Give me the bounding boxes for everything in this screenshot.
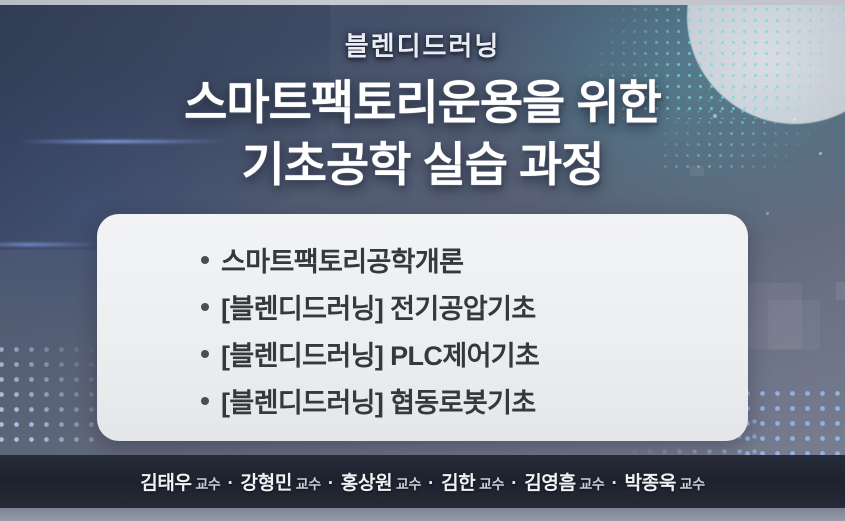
- bullet-icon: [201, 397, 209, 405]
- course-promo-slide: 블렌디드러닝 스마트팩토리운용을 위한 기초공학 실습 과정 스마트팩토리공학개…: [0, 0, 845, 521]
- instructor-names: 김태우 교수 · 강형민 교수 · 홍상원 교수 · 김한 교수 · 김영흠 교…: [140, 468, 705, 495]
- name-separator: ·: [605, 473, 625, 494]
- translucent-plate: [836, 282, 845, 300]
- bottom-edge-strip: [0, 508, 845, 521]
- course-label: [블렌디드러닝] PLC제어기초: [221, 334, 539, 373]
- instructor-name: 김태우: [140, 473, 192, 494]
- kicker-container: 블렌디드러닝: [0, 26, 845, 63]
- course-label: [블렌디드러닝] 전기공압기초: [221, 287, 536, 326]
- top-edge-strip: [0, 0, 845, 5]
- light-streak: [0, 243, 100, 246]
- instructor-name: 박종욱: [625, 473, 677, 494]
- course-label: 스마트팩토리공학개론: [221, 240, 463, 279]
- instructor-role: 교수: [475, 476, 504, 492]
- bullet-icon: [201, 350, 209, 358]
- course-list: 스마트팩토리공학개론 [블렌디드러닝] 전기공압기초 [블렌디드러닝] PLC제…: [97, 214, 748, 424]
- translucent-plate: [768, 300, 820, 350]
- instructor-role: 교수: [292, 476, 321, 492]
- title-line-1: 스마트팩토리운용을 위한: [0, 72, 845, 134]
- instructor-name: 김한: [441, 473, 475, 494]
- instructor-name: 강형민: [240, 473, 292, 494]
- name-separator: ·: [220, 473, 240, 494]
- title-line-2: 기초공학 실습 과정: [0, 134, 845, 196]
- page-title: 스마트팩토리운용을 위한 기초공학 실습 과정: [0, 72, 845, 196]
- name-separator: ·: [504, 473, 524, 494]
- instructor-role: 교수: [392, 476, 421, 492]
- instructor-name: 홍상원: [341, 473, 393, 494]
- instructor-name: 김영흠: [524, 473, 576, 494]
- course-list-card: 스마트팩토리공학개론 [블렌디드러닝] 전기공압기초 [블렌디드러닝] PLC제…: [97, 214, 748, 441]
- list-item[interactable]: [블렌디드러닝] 전기공압기초: [201, 283, 748, 330]
- light-speck: [766, 212, 769, 215]
- name-separator: ·: [321, 473, 341, 494]
- blue-dot-grid-bottom-left-icon: [0, 342, 104, 452]
- instructor-footer-bar: 김태우 교수 · 강형민 교수 · 홍상원 교수 · 김한 교수 · 김영흠 교…: [0, 455, 845, 508]
- bullet-icon: [201, 303, 209, 311]
- kicker-label: 블렌디드러닝: [345, 26, 501, 63]
- course-label: [블렌디드러닝] 협동로봇기초: [221, 381, 536, 420]
- name-separator: ·: [421, 473, 441, 494]
- list-item[interactable]: 스마트팩토리공학개론: [201, 236, 748, 283]
- instructor-role: 교수: [576, 476, 605, 492]
- instructor-role: 교수: [676, 476, 705, 492]
- instructor-role: 교수: [192, 476, 221, 492]
- list-item[interactable]: [블렌디드러닝] PLC제어기초: [201, 330, 748, 377]
- bullet-icon: [201, 256, 209, 264]
- list-item[interactable]: [블렌디드러닝] 협동로봇기초: [201, 377, 748, 424]
